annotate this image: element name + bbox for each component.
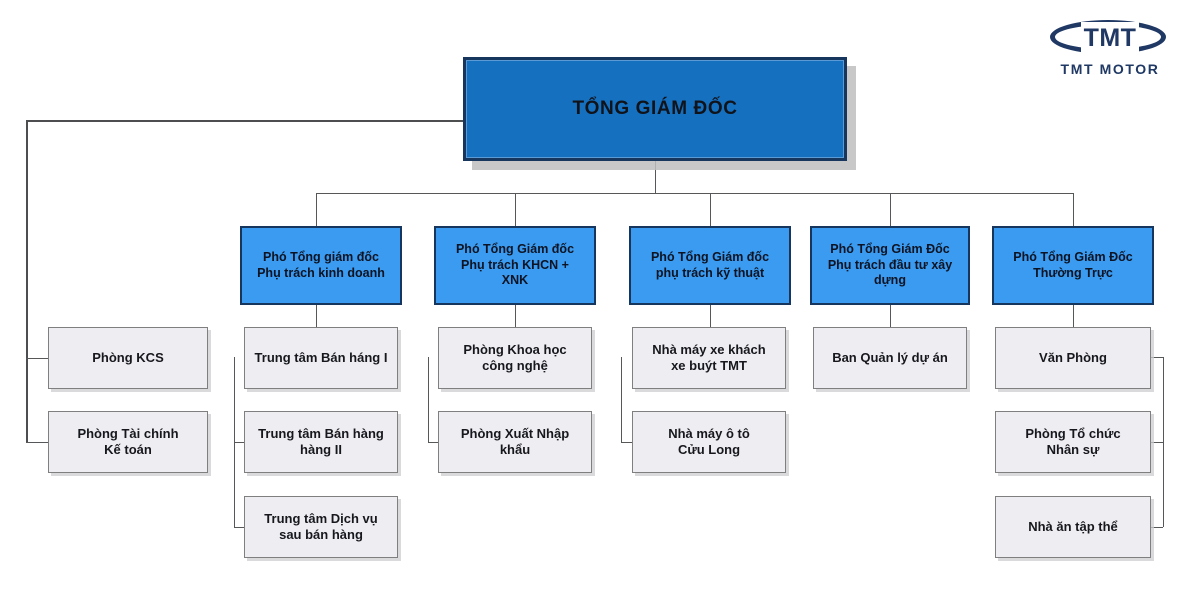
node-nha-may-o-to-cuu-long-label: Nhà máy ô tô Cửu Long xyxy=(662,426,756,459)
node-ban-quan-ly-du-an[interactable]: Ban Quản lý dự án xyxy=(813,327,967,389)
node-deputy-dau-tu-xay-dung[interactable]: Phó Tổng Giám Đốc Phụ trách đầu tư xây d… xyxy=(810,226,970,305)
connector-column2-spine xyxy=(428,357,429,442)
node-deputy-khcn-xnk[interactable]: Phó Tổng Giám đốc Phụ trách KHCN + XNK xyxy=(434,226,596,305)
connector-bus-to-deputy-4 xyxy=(890,193,891,226)
node-phong-khoa-hoc-cong-nghe-label: Phòng Khoa học công nghệ xyxy=(457,342,572,375)
logo-wordmark: TMT MOTOR xyxy=(1061,61,1160,77)
node-nha-may-xe-khach-xe-buyt-tmt[interactable]: Nhà máy xe khách xe buýt TMT xyxy=(632,327,786,389)
node-van-phong-label: Văn Phòng xyxy=(1033,350,1113,366)
node-deputy-ky-thuat[interactable]: Phó Tổng Giám đốc phụ trách kỹ thuật xyxy=(629,226,791,305)
node-ceo-label: TỔNG GIÁM ĐỐC xyxy=(566,97,743,121)
node-deputy-kinh-doanh[interactable]: Phó Tổng giám đốc Phụ trách kinh doanh xyxy=(240,226,402,305)
node-trung-tam-ban-hang-2[interactable]: Trung tâm Bán hàng hàng II xyxy=(244,411,398,473)
node-nha-may-xe-khach-xe-buyt-tmt-label: Nhà máy xe khách xe buýt TMT xyxy=(646,342,771,375)
connector-deputy1-drop xyxy=(316,305,317,327)
org-chart-canvas: TMT TMT MOTOR TỔNG GIÁM ĐỐC Phòng KCS xyxy=(0,0,1200,615)
connector-left-to-kcs xyxy=(26,358,48,359)
connector-column3-spine xyxy=(621,357,622,442)
node-ban-quan-ly-du-an-label: Ban Quản lý dự án xyxy=(826,350,954,366)
connector-deputy3-drop xyxy=(710,305,711,327)
node-deputy-ky-thuat-label: Phó Tổng Giám đốc phụ trách kỹ thuật xyxy=(645,250,775,281)
connector-ceo-to-left-branch xyxy=(26,120,463,122)
node-trung-tam-ban-hang-1-label: Trung tâm Bán háng I xyxy=(249,350,394,366)
node-nha-may-o-to-cuu-long[interactable]: Nhà máy ô tô Cửu Long xyxy=(632,411,786,473)
node-phong-xuat-nhap-khau-label: Phòng Xuất Nhập khẩu xyxy=(455,426,575,459)
node-ceo[interactable]: TỔNG GIÁM ĐỐC xyxy=(463,57,847,161)
connector-left-branch-spine xyxy=(26,120,28,443)
logo-mark-text: TMT xyxy=(1081,22,1140,54)
connector-bus-to-deputy-3 xyxy=(710,193,711,226)
node-deputy-dau-tu-xay-dung-label: Phó Tổng Giám Đốc Phụ trách đầu tư xây d… xyxy=(822,242,958,289)
connector-bus-to-deputy-2 xyxy=(515,193,516,226)
node-deputy-kinh-doanh-label: Phó Tổng giám đốc Phụ trách kinh doanh xyxy=(251,250,391,281)
node-van-phong[interactable]: Văn Phòng xyxy=(995,327,1151,389)
node-phong-to-chuc-nhan-su[interactable]: Phòng Tổ chức Nhân sự xyxy=(995,411,1151,473)
node-phong-xuat-nhap-khau[interactable]: Phòng Xuất Nhập khẩu xyxy=(438,411,592,473)
connector-ceo-drop xyxy=(655,161,656,193)
connector-deputy-bus xyxy=(316,193,1074,194)
node-phong-khoa-hoc-cong-nghe[interactable]: Phòng Khoa học công nghệ xyxy=(438,327,592,389)
node-nha-an-tap-the[interactable]: Nhà ăn tập thể xyxy=(995,496,1151,558)
node-phong-kcs-label: Phòng KCS xyxy=(86,350,170,366)
connector-bus-to-deputy-5 xyxy=(1073,193,1074,226)
node-deputy-thuong-truc[interactable]: Phó Tổng Giám Đốc Thường Trực xyxy=(992,226,1154,305)
connector-column5-to-vanphong xyxy=(1151,357,1163,358)
node-deputy-khcn-xnk-label: Phó Tổng Giám đốc Phụ trách KHCN + XNK xyxy=(450,242,580,289)
connector-bus-to-deputy-1 xyxy=(316,193,317,226)
node-phong-tai-chinh-ke-toan[interactable]: Phòng Tài chính Kế toán xyxy=(48,411,208,473)
tmt-motor-logo: TMT TMT MOTOR xyxy=(1030,14,1190,80)
connector-deputy5-drop xyxy=(1073,305,1074,327)
connector-column5-spine xyxy=(1163,357,1164,527)
connector-deputy2-drop xyxy=(515,305,516,327)
node-nha-an-tap-the-label: Nhà ăn tập thể xyxy=(1022,519,1124,535)
connector-deputy4-drop xyxy=(890,305,891,327)
node-trung-tam-ban-hang-2-label: Trung tâm Bán hàng hàng II xyxy=(252,426,390,459)
connector-left-to-taichinh xyxy=(26,442,48,443)
node-trung-tam-dich-vu-sau-ban-hang[interactable]: Trung tâm Dịch vụ sau bán hàng xyxy=(244,496,398,558)
node-phong-tai-chinh-ke-toan-label: Phòng Tài chính Kế toán xyxy=(71,426,184,459)
node-phong-kcs[interactable]: Phòng KCS xyxy=(48,327,208,389)
node-trung-tam-dich-vu-sau-ban-hang-label: Trung tâm Dịch vụ sau bán hàng xyxy=(258,511,383,544)
logo-mark-icon: TMT xyxy=(1050,18,1170,58)
node-phong-to-chuc-nhan-su-label: Phòng Tổ chức Nhân sự xyxy=(1019,426,1126,459)
node-trung-tam-ban-hang-1[interactable]: Trung tâm Bán háng I xyxy=(244,327,398,389)
node-deputy-thuong-truc-label: Phó Tổng Giám Đốc Thường Trực xyxy=(1007,250,1138,281)
connector-column5-to-tochuc xyxy=(1151,442,1163,443)
connector-column5-to-nhaan xyxy=(1151,527,1163,528)
